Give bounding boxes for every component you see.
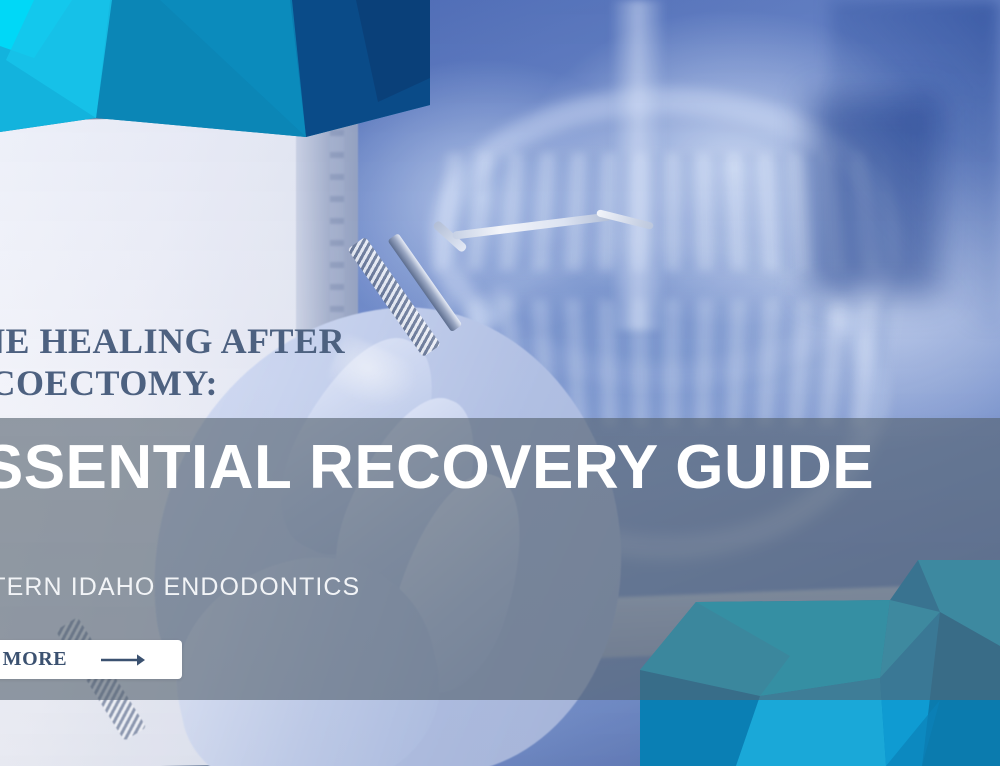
banner-headline: ESSENTIAL RECOVERY GUIDE bbox=[0, 432, 1000, 504]
learn-more-button[interactable]: LEARN MORE bbox=[0, 640, 182, 679]
banner-content: BONE HEALING AFTER APICOECTOMY: ESSENTIA… bbox=[0, 0, 1000, 766]
arrow-right-icon bbox=[101, 653, 145, 667]
banner-eyebrow-heading: BONE HEALING AFTER APICOECTOMY: bbox=[0, 320, 486, 404]
learn-more-label: LEARN MORE bbox=[0, 648, 67, 671]
practice-name: WESTERN IDAHO ENDODONTICS bbox=[0, 573, 630, 602]
promotional-banner: BONE HEALING AFTER APICOECTOMY: ESSENTIA… bbox=[0, 0, 1000, 766]
